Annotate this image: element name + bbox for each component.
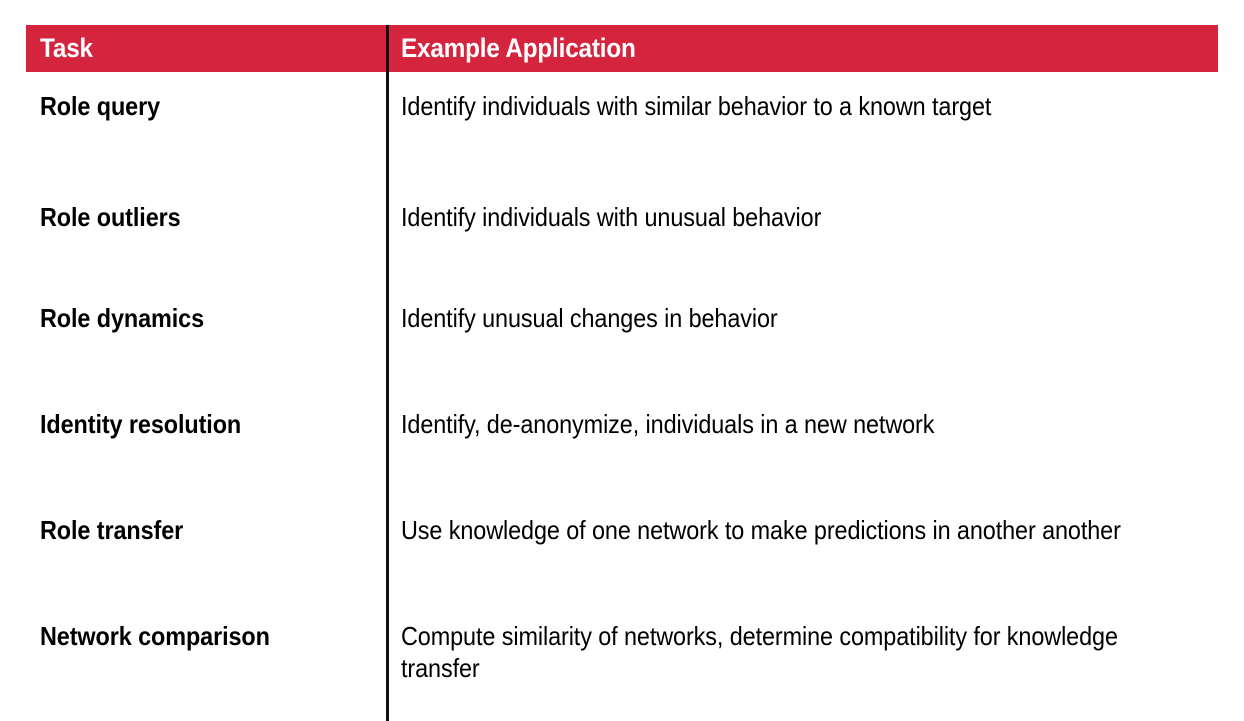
application-text: Compute similarity of networks, determin… — [401, 621, 1201, 684]
table-cell-application: Identify, de-anonymize, individuals in a… — [401, 409, 1201, 441]
task-label: Role query — [40, 91, 370, 123]
application-text: Identify unusual changes in behavior — [401, 303, 1201, 335]
column-header-application-label: Example Application — [401, 33, 636, 64]
table-cell-task: Role query — [40, 91, 370, 123]
table-cell-task: Role dynamics — [40, 303, 370, 335]
table-cell-application: Identify individuals with unusual behavi… — [401, 202, 1201, 234]
table-cell-task: Network comparison — [40, 621, 370, 653]
column-header-task: Task — [40, 25, 99, 72]
table-cell-task: Role outliers — [40, 202, 370, 234]
column-header-application: Example Application — [401, 25, 662, 72]
table-cell-application: Compute similarity of networks, determin… — [401, 621, 1201, 684]
application-text: Identify individuals with similar behavi… — [401, 91, 1201, 123]
slide-root: Task Example Application Role query Iden… — [0, 0, 1244, 721]
table-cell-task: Role transfer — [40, 515, 370, 547]
task-label: Network comparison — [40, 621, 370, 653]
column-header-task-label: Task — [40, 33, 93, 64]
table-cell-application: Use knowledge of one network to make pre… — [401, 515, 1201, 547]
task-label: Role outliers — [40, 202, 370, 234]
task-label: Role dynamics — [40, 303, 370, 335]
application-text: Use knowledge of one network to make pre… — [401, 515, 1201, 547]
task-label: Identity resolution — [40, 409, 370, 441]
task-label: Role transfer — [40, 515, 370, 547]
application-text: Identify individuals with unusual behavi… — [401, 202, 1201, 234]
table-body: Role query Identify individuals with sim… — [0, 72, 1244, 721]
table-cell-task: Identity resolution — [40, 409, 370, 441]
application-text: Identify, de-anonymize, individuals in a… — [401, 409, 1201, 441]
table-cell-application: Identify individuals with similar behavi… — [401, 91, 1201, 123]
table-cell-application: Identify unusual changes in behavior — [401, 303, 1201, 335]
